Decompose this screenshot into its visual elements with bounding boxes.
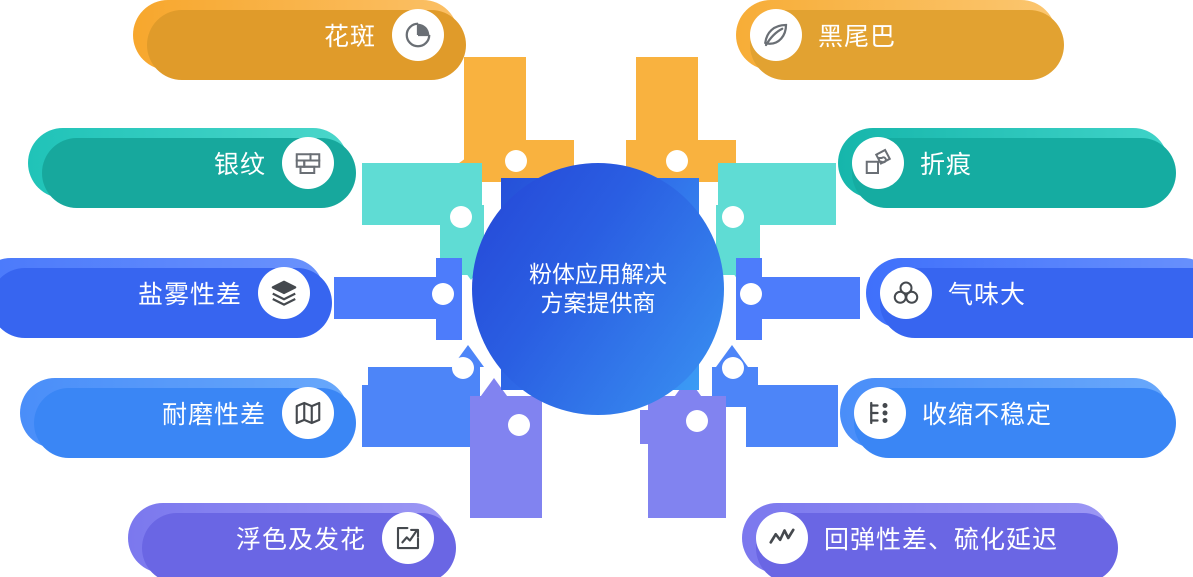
puzzle-icon (852, 137, 904, 189)
connector-segment (362, 385, 480, 447)
connector-dot (452, 357, 474, 379)
node-hua-ban[interactable]: 花斑 (133, 0, 458, 70)
node-label: 耐磨性差 (162, 395, 266, 431)
node-hui-tan[interactable]: 回弹性差、硫化延迟 (742, 503, 1110, 573)
connector-segment (746, 385, 838, 447)
connector-segment (640, 410, 690, 444)
chart-arrow-icon (382, 512, 434, 564)
node-fu-se[interactable]: 浮色及发花 (128, 503, 448, 573)
node-qi-wei-da[interactable]: 气味大 (866, 258, 1193, 328)
node-nai-mo[interactable]: 耐磨性差 (20, 378, 348, 448)
layers-icon (258, 267, 310, 319)
node-hei-wei-ba[interactable]: 黑尾巴 (736, 0, 1056, 70)
connector-dot (505, 150, 527, 172)
leaf-icon (750, 9, 802, 61)
connector-dot (686, 410, 708, 432)
pie-chart-icon (392, 9, 444, 61)
connector-dot (666, 150, 688, 172)
connector-dot (722, 357, 744, 379)
node-label: 盐雾性差 (138, 275, 242, 311)
center-title-line2: 方案提供商 (503, 289, 693, 318)
node-yin-wen[interactable]: 银纹 (28, 128, 348, 198)
line-chart-icon (756, 512, 808, 564)
sitemap-icon (854, 387, 906, 439)
recycle-icon (880, 267, 932, 319)
diagram-canvas: 粉体应用解决 方案提供商 花斑 黑尾巴 银纹 (0, 0, 1193, 577)
node-label: 折痕 (920, 145, 972, 181)
center-title-line1: 粉体应用解决 (503, 260, 693, 289)
node-zhe-hen[interactable]: 折痕 (838, 128, 1168, 198)
node-label: 回弹性差、硫化延迟 (824, 520, 1058, 556)
node-label: 气味大 (948, 275, 1026, 311)
connector-dot (722, 206, 744, 228)
connector-dot (432, 283, 454, 305)
connector-dot (450, 206, 472, 228)
connector-dot (508, 414, 530, 436)
node-label: 收缩不稳定 (922, 395, 1052, 431)
connector-dot (740, 283, 762, 305)
center-node: 粉体应用解决 方案提供商 (472, 163, 724, 415)
node-label: 花斑 (324, 17, 376, 53)
node-label: 浮色及发花 (236, 520, 366, 556)
brick-wall-icon (282, 137, 334, 189)
map-icon (282, 387, 334, 439)
node-yan-wu[interactable]: 盐雾性差 (0, 258, 324, 328)
node-shou-suo[interactable]: 收缩不稳定 (840, 378, 1168, 448)
node-label: 银纹 (214, 145, 266, 181)
node-label: 黑尾巴 (818, 17, 896, 53)
